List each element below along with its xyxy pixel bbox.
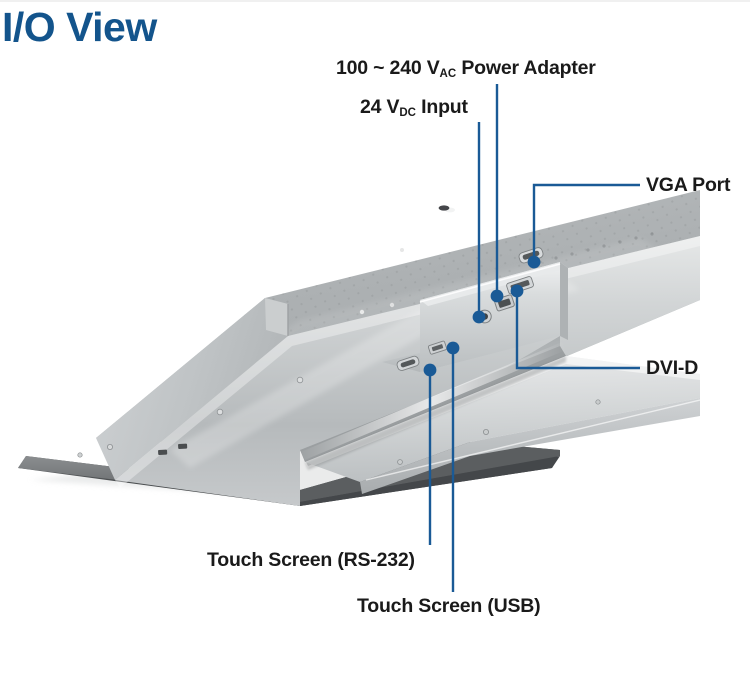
callout-label-power-adapter-pre: 100 ~ 240 V: [336, 57, 440, 79]
callout-label-power-adapter-post: Power Adapter: [456, 57, 596, 79]
callout-label-dvi-d: DVI-D: [646, 357, 698, 380]
top-divider: [0, 0, 750, 2]
callout-label-power-adapter: 100 ~ 240 VAC Power Adapter: [336, 57, 596, 80]
page-title: I/O View: [2, 4, 157, 51]
callout-label-dc-input-pre: 24 V: [360, 96, 399, 118]
callout-label-touch-usb: Touch Screen (USB): [357, 595, 540, 618]
callout-label-vga-port: VGA Port: [646, 174, 730, 197]
callout-label-power-adapter-sub: AC: [440, 68, 457, 80]
product-photo-panel-pc-rear: [0, 150, 700, 520]
callout-label-dc-input-post: Input: [416, 96, 468, 118]
callout-label-touch-rs232: Touch Screen (RS-232): [207, 549, 415, 572]
callout-label-dc-input-sub: DC: [399, 107, 416, 119]
io-view-page: I/O View: [0, 0, 750, 683]
callout-label-dc-input: 24 VDC Input: [360, 96, 468, 119]
